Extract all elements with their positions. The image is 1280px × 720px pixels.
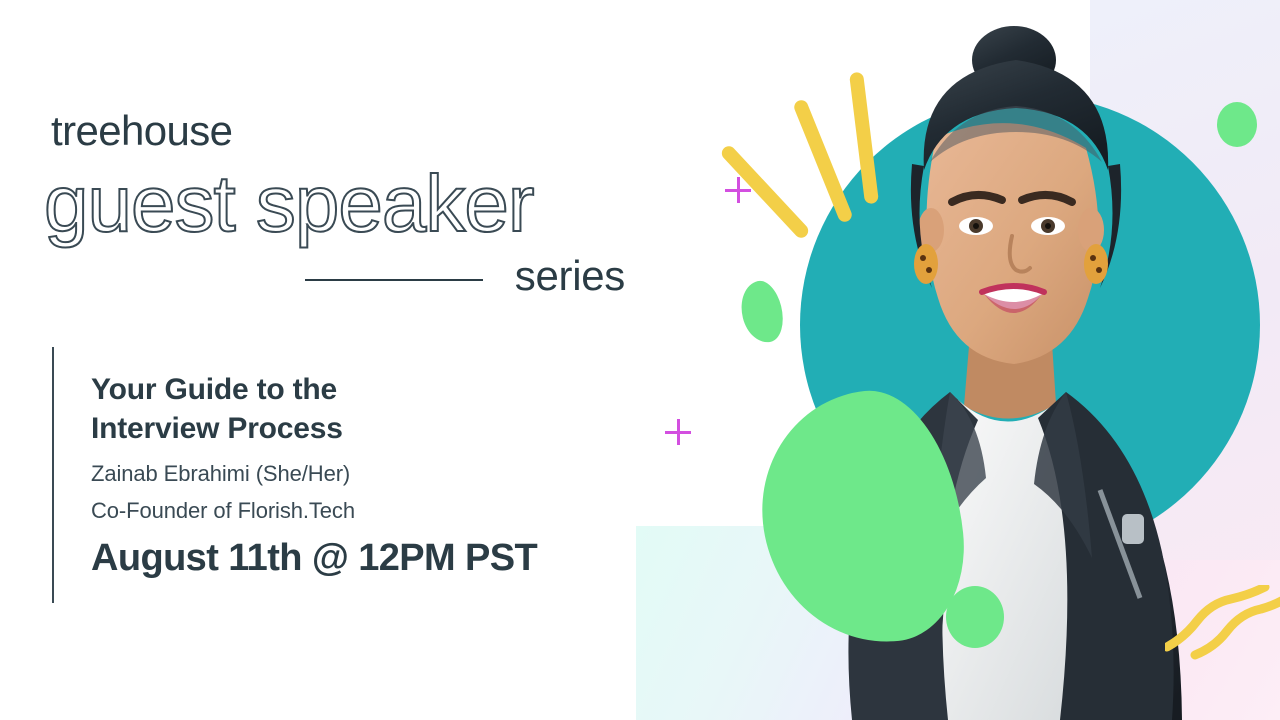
text-column: treehouse guest speaker series Your Guid… bbox=[0, 0, 660, 720]
green-blob-small-icon bbox=[735, 277, 789, 347]
brand-logo: treehouse bbox=[51, 107, 232, 155]
speaker-role: Co-Founder of Florish.Tech bbox=[91, 498, 355, 524]
talk-title-line-1: Your Guide to the bbox=[91, 373, 337, 406]
series-row: series bbox=[305, 252, 625, 308]
magenta-plus-mark-2-icon bbox=[665, 419, 691, 445]
headline-outlined: guest speaker bbox=[44, 162, 534, 246]
magenta-plus-mark-1-icon bbox=[725, 177, 751, 203]
green-circle-top-icon bbox=[1217, 102, 1257, 147]
series-label: series bbox=[515, 252, 625, 300]
talk-title-line-2: Interview Process bbox=[91, 412, 343, 445]
series-divider-rule bbox=[305, 279, 483, 281]
accent-vertical-rule bbox=[52, 347, 54, 603]
talk-title: Your Guide to theInterview Process bbox=[91, 370, 561, 448]
yellow-squiggle-lines-icon bbox=[1165, 585, 1280, 695]
event-datetime: August 11th @ 12PM PST bbox=[91, 537, 537, 580]
slide-canvas: treehouse guest speaker series Your Guid… bbox=[0, 0, 1280, 720]
green-circle-bottom-icon bbox=[946, 586, 1004, 648]
speaker-name: Zainab Ebrahimi (She/Her) bbox=[91, 461, 350, 487]
